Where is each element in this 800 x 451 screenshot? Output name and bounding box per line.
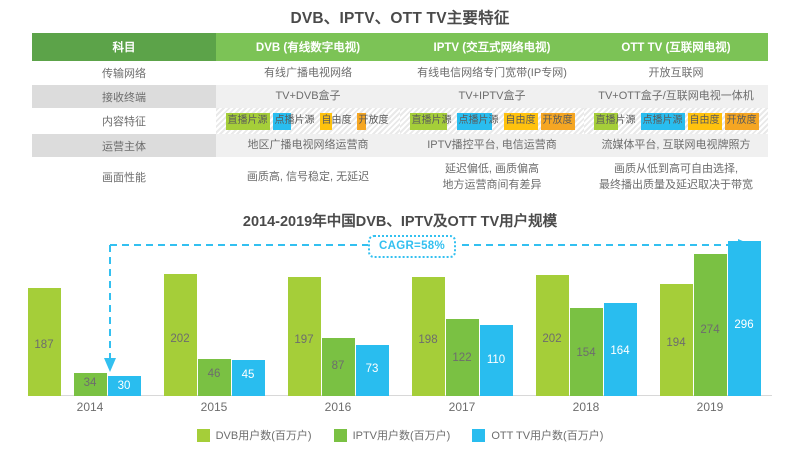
bar-value-label: 46 — [198, 368, 231, 380]
header-cell-dvb: DVB (有线数字电视) — [216, 33, 400, 61]
legend-item-2[interactable]: OTT TV用户数(百万户) — [472, 427, 603, 443]
legend-item-0[interactable]: DVB用户数(百万户) — [197, 427, 312, 443]
bar-group-2018: 202154164 — [524, 232, 648, 396]
bar-2017-series0: 198 — [412, 277, 445, 396]
bar-2018-series2: 164 — [604, 303, 637, 396]
feature-bar-label: 自由度 — [506, 116, 536, 126]
legend-label: DVB用户数(百万户) — [216, 427, 312, 443]
bar-value-label: 194 — [660, 337, 693, 349]
feature-bar-label: 点播片源 — [459, 116, 499, 126]
feature-bar-ott-3: 开放度 — [725, 113, 759, 130]
bar-group-2016: 1978773 — [276, 232, 400, 396]
bar-groups: 1873430202464519787731981221102021541641… — [28, 232, 772, 396]
bar-value-label: 202 — [164, 333, 197, 345]
cell-terminal-iptv: TV+IPTV盒子 — [400, 85, 584, 108]
bar-2019-series0: 194 — [660, 284, 693, 396]
feature-bar-dvb-1: 点播片源 — [273, 113, 317, 130]
feature-bar-iptv-1: 点播片源 — [457, 113, 501, 130]
table-header-row: 科目 DVB (有线数字电视) IPTV (交互式网络电视) OTT TV (互… — [32, 33, 768, 61]
legend-swatch-icon — [334, 429, 347, 442]
table-row: 接收终端 TV+DVB盒子 TV+IPTV盒子 TV+OTT盒子/互联网电视一体… — [32, 85, 768, 108]
header-cell-subject: 科目 — [32, 33, 216, 61]
bar-value-label: 110 — [480, 354, 513, 366]
bar-2014-series1: 34 — [74, 373, 107, 396]
bar-2017-series2: 110 — [480, 325, 513, 396]
feature-bar-dvb-0: 直播片源 — [226, 113, 270, 130]
bar-value-label: 187 — [28, 339, 61, 351]
feature-bar-label: 直播片源 — [412, 116, 452, 126]
legend-item-1[interactable]: IPTV用户数(百万户) — [334, 427, 451, 443]
bar-2015-series1: 46 — [198, 359, 231, 396]
cell-quality-ott: 画质从低到高可自由选择,最终播出质量及延迟取决于带宽 — [584, 157, 768, 197]
x-axis-label-2015: 2015 — [152, 400, 276, 414]
bar-value-label: 198 — [412, 334, 445, 346]
table-row-content-features: 内容特征 直播片源点播片源自由度开放度 直播片源点播片源自由度开放度 直播片源点… — [32, 108, 768, 134]
feature-bar-label: 自由度 — [322, 116, 352, 126]
legend-swatch-icon — [472, 429, 485, 442]
feature-bar-ott-1: 点播片源 — [641, 113, 685, 130]
bar-value-label: 164 — [604, 345, 637, 357]
feature-bar-dvb-2: 自由度 — [320, 113, 354, 130]
x-axis-label-2014: 2014 — [28, 400, 152, 414]
feature-bar-label: 开放度 — [543, 116, 573, 126]
feature-bar-label: 自由度 — [690, 116, 720, 126]
row-label-operator: 运营主体 — [32, 134, 216, 157]
x-axis-labels: 201420152016201720182019 — [28, 400, 772, 420]
bar-group-2014: 1873430 — [28, 232, 152, 396]
feature-bar-label: 开放度 — [727, 116, 757, 126]
bar-2015-series2: 45 — [232, 360, 265, 396]
cell-quality-dvb: 画质高, 信号稳定, 无延迟 — [216, 157, 400, 197]
bar-2014-series2: 30 — [108, 376, 141, 396]
bar-value-label: 87 — [322, 360, 355, 372]
cell-features-dvb: 直播片源点播片源自由度开放度 — [216, 108, 400, 134]
bar-2016-series2: 73 — [356, 345, 389, 396]
feature-bar-ott-0: 直播片源 — [594, 113, 638, 130]
feature-bar-iptv-3: 开放度 — [541, 113, 575, 130]
table-title: DVB、IPTV、OTT TV主要特征 — [0, 6, 800, 28]
feature-bar-ott-2: 自由度 — [688, 113, 722, 130]
legend-label: IPTV用户数(百万户) — [353, 427, 451, 443]
header-cell-iptv: IPTV (交互式网络电视) — [400, 33, 584, 61]
cell-operator-ott: 流媒体平台, 互联网电视牌照方 — [584, 134, 768, 157]
spec-table: 科目 DVB (有线数字电视) IPTV (交互式网络电视) OTT TV (互… — [32, 33, 768, 197]
bar-2014-series0: 187 — [28, 288, 61, 396]
feature-bar-label: 直播片源 — [228, 116, 268, 126]
legend-label: OTT TV用户数(百万户) — [491, 427, 603, 443]
bar-chart: CAGR=58% 1873430202464519787731981221102… — [0, 232, 800, 412]
legend-swatch-icon — [197, 429, 210, 442]
bar-value-label: 122 — [446, 352, 479, 364]
feature-bar-label: 直播片源 — [596, 116, 636, 126]
bar-2018-series0: 202 — [536, 275, 569, 396]
x-axis-label-2018: 2018 — [524, 400, 648, 414]
feature-bar-label: 开放度 — [359, 116, 389, 126]
row-label-receiver-terminal: 接收终端 — [32, 85, 216, 108]
bar-value-label: 34 — [74, 377, 107, 389]
bar-2019-series1: 274 — [694, 254, 727, 396]
bar-value-label: 154 — [570, 347, 603, 359]
cell-features-ott: 直播片源点播片源自由度开放度 — [584, 108, 768, 134]
bar-group-2019: 194274296 — [648, 232, 772, 396]
x-axis-label-2017: 2017 — [400, 400, 524, 414]
bar-value-label: 197 — [288, 334, 321, 346]
cell-transport-ott: 开放互联网 — [584, 61, 768, 85]
table-row: 运营主体 地区广播电视网络运营商 IPTV播控平台, 电信运营商 流媒体平台, … — [32, 134, 768, 157]
feature-bar-label: 点播片源 — [643, 116, 683, 126]
bar-group-2015: 2024645 — [152, 232, 276, 396]
feature-bar-iptv-0: 直播片源 — [410, 113, 454, 130]
bar-value-label: 274 — [694, 324, 727, 336]
bar-2016-series0: 197 — [288, 277, 321, 396]
chart-legend: DVB用户数(百万户)IPTV用户数(百万户)OTT TV用户数(百万户) — [0, 427, 800, 443]
bar-2018-series1: 154 — [570, 308, 603, 396]
cell-features-iptv: 直播片源点播片源自由度开放度 — [400, 108, 584, 134]
feature-bar-iptv-2: 自由度 — [504, 113, 538, 130]
cell-quality-iptv: 延迟偏低, 画质偏高地方运营商间有差异 — [400, 157, 584, 197]
x-axis-label-2016: 2016 — [276, 400, 400, 414]
cell-operator-iptv: IPTV播控平台, 电信运营商 — [400, 134, 584, 157]
bar-value-label: 45 — [232, 369, 265, 381]
bar-value-label: 202 — [536, 333, 569, 345]
bar-2019-series2: 296 — [728, 241, 761, 396]
chart-title: 2014-2019年中国DVB、IPTV及OTT TV用户规模 — [0, 210, 800, 231]
cell-terminal-dvb: TV+DVB盒子 — [216, 85, 400, 108]
cell-transport-iptv: 有线电信网络专门宽带(IP专网) — [400, 61, 584, 85]
feature-bar-dvb-3: 开放度 — [357, 113, 391, 130]
bar-group-2017: 198122110 — [400, 232, 524, 396]
table-row: 画面性能 画质高, 信号稳定, 无延迟 延迟偏低, 画质偏高地方运营商间有差异 … — [32, 157, 768, 197]
bar-2016-series1: 87 — [322, 338, 355, 396]
bar-2015-series0: 202 — [164, 274, 197, 396]
feature-bar-label: 点播片源 — [275, 116, 315, 126]
header-cell-ott: OTT TV (互联网电视) — [584, 33, 768, 61]
bar-value-label: 30 — [108, 380, 141, 392]
row-label-transport-network: 传输网络 — [32, 61, 216, 85]
x-axis-label-2019: 2019 — [648, 400, 772, 414]
bar-value-label: 73 — [356, 363, 389, 375]
row-label-content-features: 内容特征 — [32, 108, 216, 134]
cell-operator-dvb: 地区广播电视网络运营商 — [216, 134, 400, 157]
bar-2017-series1: 122 — [446, 319, 479, 396]
table-row: 传输网络 有线广播电视网络 有线电信网络专门宽带(IP专网) 开放互联网 — [32, 61, 768, 85]
cell-transport-dvb: 有线广播电视网络 — [216, 61, 400, 85]
cell-terminal-ott: TV+OTT盒子/互联网电视一体机 — [584, 85, 768, 108]
bar-value-label: 296 — [728, 319, 761, 331]
row-label-picture-quality: 画面性能 — [32, 157, 216, 197]
